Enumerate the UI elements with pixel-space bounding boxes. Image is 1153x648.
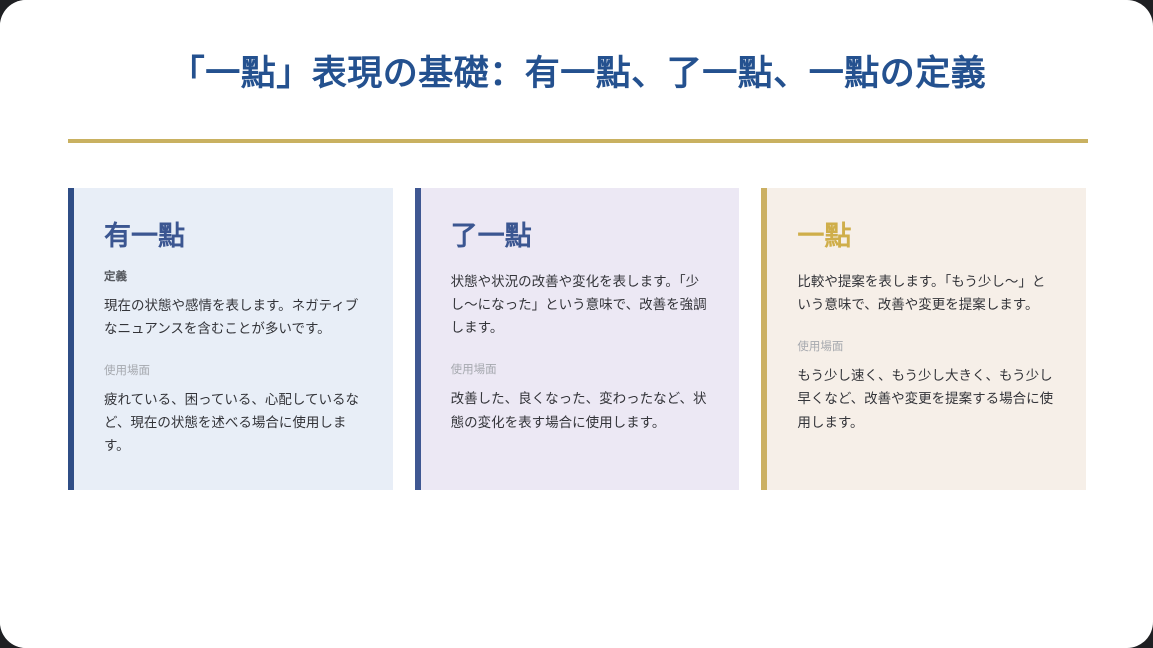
usage-text: もう少し速く、もう少し大きく、もう少し早くなど、改善や変更を提案する場合に使用し… — [797, 364, 1056, 434]
usage-label: 使用場面 — [451, 363, 710, 378]
usage-label: 使用場面 — [797, 340, 1056, 355]
slide-surface: 「一點」表現の基礎：有一點、了一點、一點の定義 有一點 定義 現在の状態や感情を… — [0, 0, 1153, 648]
slide-content-area: 「一點」表現の基礎：有一點、了一點、一點の定義 有一點 定義 現在の状態や感情を… — [0, 0, 1090, 648]
section-spacer — [104, 340, 363, 364]
page-title: 「一點」表現の基礎：有一點、了一點、一點の定義 — [68, 52, 1088, 96]
title-block: 「一點」表現の基礎：有一點、了一點、一點の定義 — [68, 52, 1088, 96]
definition-text: 現在の状態や感情を表します。ネガティブなニュアンスを含むことが多いです。 — [104, 294, 363, 340]
title-divider — [68, 139, 1088, 143]
definition-card-le-yidian: 了一點 状態や状況の改善や変化を表します。「少し〜になった」という意味で、改善を… — [415, 188, 740, 490]
usage-label: 使用場面 — [104, 364, 363, 379]
section-spacer — [451, 339, 710, 363]
definition-label: 定義 — [104, 270, 363, 285]
definition-text: 状態や状況の改善や変化を表します。「少し〜になった」という意味で、改善を強調しま… — [451, 270, 710, 340]
usage-text: 改善した、良くなった、変わったなど、状態の変化を表す場合に使用します。 — [451, 387, 710, 433]
card-heading: 了一點 — [451, 222, 710, 252]
definition-card-you-yidian: 有一點 定義 現在の状態や感情を表します。ネガティブなニュアンスを含むことが多い… — [68, 188, 393, 490]
definition-cards-row: 有一點 定義 現在の状態や感情を表します。ネガティブなニュアンスを含むことが多い… — [68, 188, 1086, 490]
section-spacer — [797, 316, 1056, 340]
definition-text: 比較や提案を表します。「もう少し〜」という意味で、改善や変更を提案します。 — [797, 270, 1056, 316]
card-heading: 一點 — [797, 222, 1056, 252]
card-heading: 有一點 — [104, 222, 363, 252]
usage-text: 疲れている、困っている、心配しているなど、現在の状態を述べる場合に使用します。 — [104, 388, 363, 458]
definition-card-yidian: 一點 比較や提案を表します。「もう少し〜」という意味で、改善や変更を提案します。… — [761, 188, 1086, 490]
